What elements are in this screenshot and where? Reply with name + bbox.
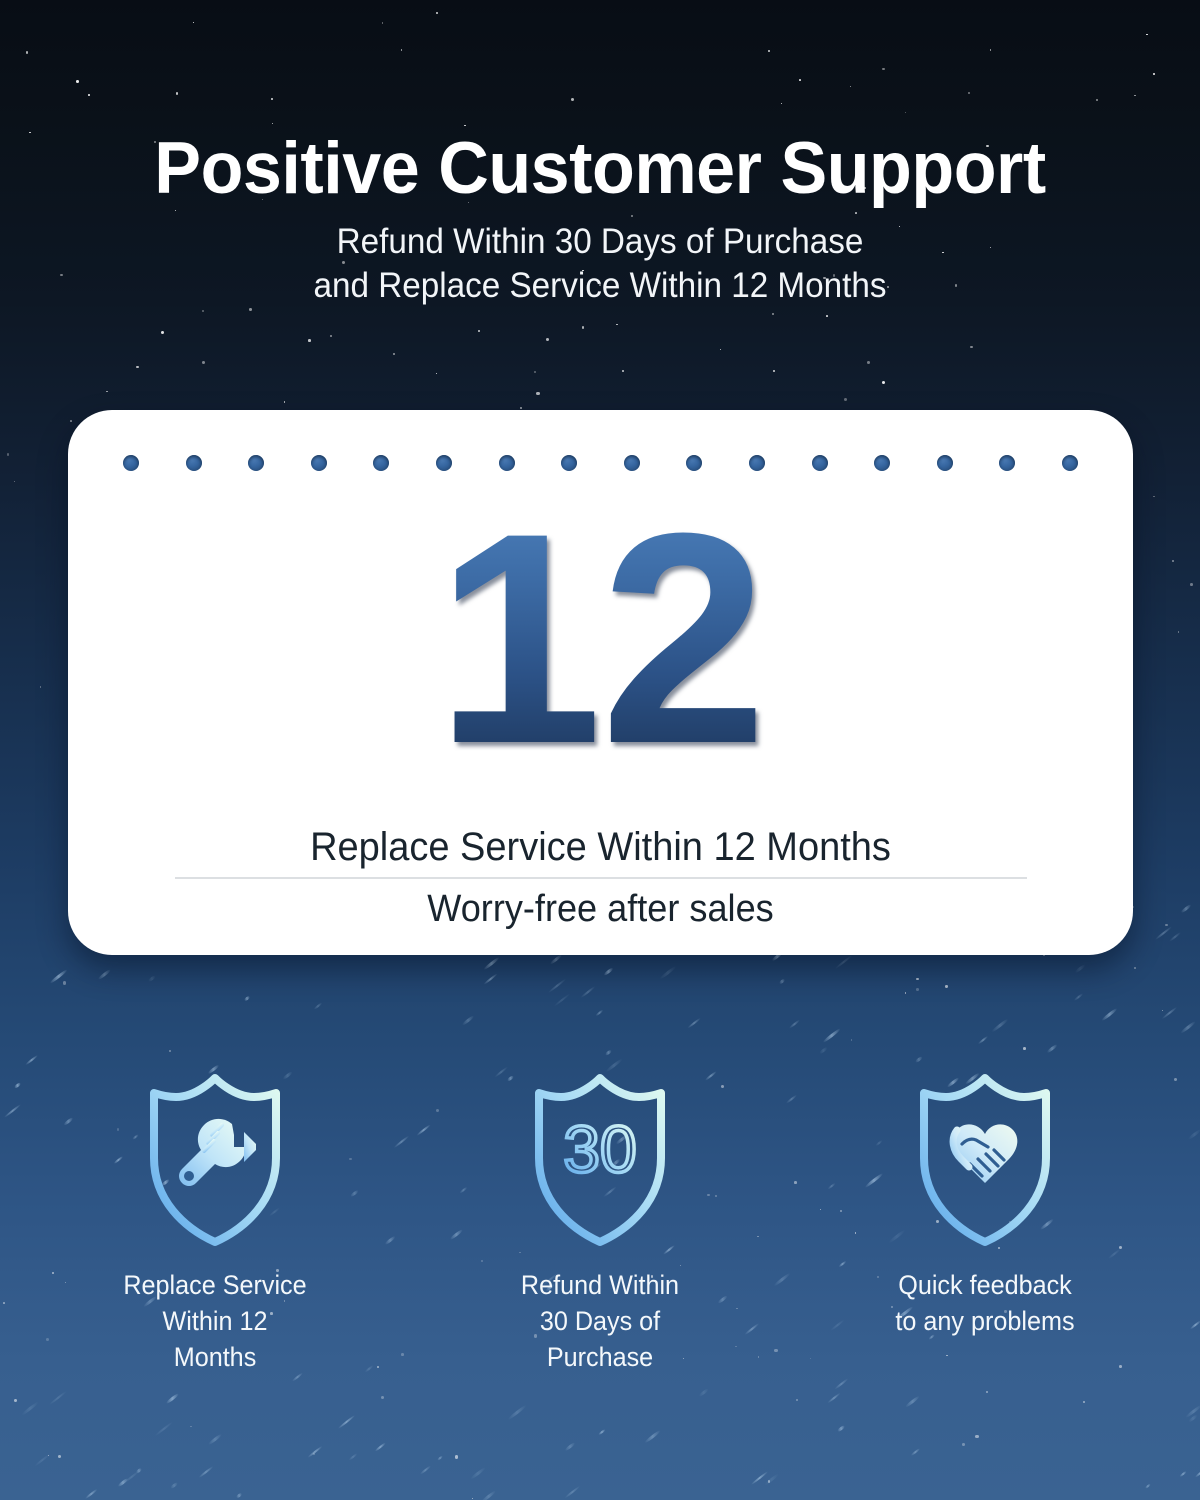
binder-hole: [311, 455, 327, 471]
feature-label: Replace Service Within 12 Months: [120, 1268, 310, 1375]
star-streak: [148, 975, 157, 983]
star-streak: [1145, 1483, 1151, 1489]
star-dot: [986, 1391, 988, 1393]
star-dot: [1083, 1401, 1085, 1403]
star-streak: [1101, 1008, 1118, 1022]
star-streak: [154, 1422, 172, 1437]
star-dot: [48, 1455, 49, 1456]
star-streak: [581, 986, 597, 999]
star-streak: [553, 993, 570, 1007]
star-dot: [1178, 631, 1179, 632]
star-streak: [779, 978, 785, 984]
star-dot: [249, 308, 252, 311]
star-dot: [313, 1453, 315, 1455]
star-dot: [796, 1399, 798, 1401]
star-dot: [975, 1435, 978, 1438]
binder-hole: [1062, 455, 1078, 471]
star-streak: [136, 1468, 143, 1475]
star-streak: [244, 995, 251, 1001]
star-dot: [381, 1396, 384, 1399]
subtitle-line-2: and Replace Service Within 12 Months: [30, 264, 1170, 308]
star-dot: [582, 326, 585, 329]
star-streak: [1161, 1006, 1177, 1019]
star-streak: [549, 954, 562, 965]
feature-label: Refund Within 30 Days of Purchase: [505, 1268, 695, 1375]
binder-hole: [749, 455, 765, 471]
star-dot: [330, 335, 333, 338]
binder-hole: [624, 455, 640, 471]
star-dot: [202, 361, 205, 364]
shield-badge-number: 30: [563, 1112, 636, 1186]
star-streak: [834, 1378, 849, 1390]
binder-hole: [874, 455, 890, 471]
star-streak: [1195, 1469, 1200, 1479]
binder-hole: [186, 455, 202, 471]
feature-label: Quick feedback to any problems: [890, 1268, 1080, 1340]
star-streak: [348, 1453, 357, 1460]
star-streak: [548, 979, 566, 994]
star-dot: [308, 339, 311, 342]
star-streak: [236, 1492, 243, 1498]
star-streak: [905, 1395, 921, 1408]
star-streak: [1179, 1471, 1186, 1477]
star-streak: [98, 969, 112, 981]
star-dot: [720, 349, 721, 350]
feature-list: Replace Service Within 12 Months 30: [0, 1070, 1200, 1375]
star-streak: [314, 1002, 323, 1010]
shield-30-days-icon: 30: [500, 1070, 700, 1250]
star-dot: [826, 315, 828, 317]
star-dot: [1153, 496, 1154, 497]
binder-hole: [123, 455, 139, 471]
star-dot: [546, 338, 549, 341]
star-streak: [1075, 964, 1086, 974]
binder-hole: [812, 455, 828, 471]
card-divider: [175, 877, 1027, 879]
feature-item-replace-service: Replace Service Within 12 Months: [115, 1070, 315, 1375]
star-streak: [835, 954, 853, 969]
star-dot: [844, 398, 847, 401]
star-streak: [564, 1442, 576, 1452]
star-streak: [603, 967, 614, 977]
feature-label-line-1: Refund Within: [505, 1268, 695, 1304]
star-streak: [199, 1466, 215, 1479]
star-dot: [393, 353, 395, 355]
star-streak: [208, 1433, 222, 1445]
star-streak: [1185, 1405, 1200, 1419]
star-dot: [472, 1498, 474, 1500]
star-streak: [991, 1018, 1009, 1033]
star-dot: [7, 453, 9, 455]
star-dot: [1023, 1047, 1026, 1050]
star-streak: [595, 1009, 603, 1016]
star-dot: [136, 366, 139, 369]
feature-label-line-1: Quick feedback: [890, 1268, 1080, 1304]
star-dot: [768, 1480, 771, 1483]
star-dot: [916, 988, 919, 991]
star-dot: [1162, 1010, 1164, 1012]
binder-hole: [373, 455, 389, 471]
star-dot: [945, 985, 947, 987]
star-dot: [851, 1039, 852, 1040]
star-dot: [63, 981, 66, 984]
star-dot: [916, 978, 918, 980]
star-streak: [788, 1019, 800, 1029]
star-dot: [534, 371, 536, 373]
star-streak: [823, 1028, 841, 1043]
star-streak: [1047, 1043, 1058, 1053]
star-streak: [307, 1446, 322, 1458]
star-streak: [1073, 993, 1083, 1002]
star-dot: [1165, 924, 1167, 926]
star-dot: [169, 1050, 171, 1052]
star-streak: [48, 1391, 66, 1406]
star-streak: [699, 1387, 710, 1396]
card-subcaption: Worry-free after sales: [95, 888, 1107, 931]
star-dot: [622, 370, 625, 373]
binder-hole: [999, 455, 1015, 471]
star-dot: [773, 370, 775, 372]
star-streak: [375, 1442, 387, 1452]
star-streak: [915, 1056, 923, 1064]
star-dot: [478, 330, 480, 332]
star-dot: [14, 1399, 17, 1402]
warranty-months-number: 12: [68, 488, 1133, 788]
star-streak: [483, 956, 500, 970]
star-dot: [882, 381, 885, 384]
star-dot: [70, 420, 72, 422]
star-streak: [25, 1054, 38, 1065]
star-streak: [1169, 931, 1181, 941]
star-streak: [420, 1466, 432, 1476]
star-streak: [911, 1448, 921, 1457]
star-dot: [106, 391, 108, 393]
promo-graphic: Positive Customer Support Refund Within …: [0, 0, 1200, 1500]
star-dot: [1134, 967, 1136, 969]
binder-hole: [686, 455, 702, 471]
star-dot: [14, 481, 15, 482]
star-dot: [616, 324, 617, 325]
star-dot: [455, 1455, 458, 1458]
star-streak: [34, 1454, 50, 1468]
star-dot: [40, 686, 41, 687]
star-streak: [564, 1485, 580, 1499]
header: Positive Customer Support Refund Within …: [0, 0, 1200, 308]
binder-hole: [436, 455, 452, 471]
star-dot: [970, 346, 972, 348]
star-streak: [977, 1036, 988, 1045]
star-streak: [470, 1467, 486, 1480]
star-dot: [867, 361, 870, 364]
star-streak: [508, 1405, 527, 1421]
feature-label-line-2: 30 Days of Purchase: [505, 1304, 695, 1376]
star-streak: [604, 1049, 612, 1056]
star-streak: [437, 1455, 443, 1460]
star-dot: [962, 1443, 965, 1446]
star-streak: [687, 1017, 701, 1029]
star-streak: [338, 1415, 356, 1429]
feature-label-line-2: to any problems: [890, 1304, 1080, 1340]
star-streak: [1180, 904, 1192, 914]
star-dot: [436, 373, 438, 375]
warranty-card: 12 Replace Service Within 12 Months Worr…: [68, 410, 1133, 955]
star-dot: [284, 401, 285, 402]
star-dot: [190, 1426, 192, 1428]
page-subtitle: Refund Within 30 Days of Purchase and Re…: [30, 206, 1170, 308]
star-streak: [481, 1490, 496, 1500]
star-dot: [905, 992, 906, 993]
binder-hole: [937, 455, 953, 471]
star-streak: [49, 968, 67, 983]
card-caption: Replace Service Within 12 Months: [95, 825, 1107, 870]
star-streak: [484, 973, 499, 985]
star-dot: [58, 1455, 61, 1458]
feature-label-line-1: Replace Service: [120, 1268, 310, 1304]
star-streak: [1154, 926, 1172, 941]
star-dot: [161, 331, 164, 334]
subtitle-line-1: Refund Within 30 Days of Purchase: [30, 220, 1170, 264]
feature-item-quick-feedback: Quick feedback to any problems: [885, 1070, 1085, 1375]
star-dot: [1172, 560, 1174, 562]
star-streak: [644, 1430, 661, 1444]
star-dot: [772, 313, 774, 315]
star-streak: [462, 1015, 475, 1026]
feature-item-refund: 30 Refund Within 30 Days of Purchase: [500, 1070, 700, 1375]
star-streak: [837, 1425, 845, 1432]
shield-handshake-heart-icon: [885, 1070, 1085, 1250]
star-dot: [1190, 583, 1193, 586]
binder-hole: [561, 455, 577, 471]
star-streak: [123, 1470, 141, 1484]
star-streak: [598, 1429, 606, 1436]
star-streak: [165, 1393, 179, 1405]
star-streak: [1188, 1414, 1198, 1422]
star-dot: [202, 310, 204, 312]
star-streak: [170, 1482, 178, 1489]
shield-wrench-icon: [115, 1070, 315, 1250]
star-streak: [85, 1489, 98, 1500]
binder-hole: [248, 455, 264, 471]
star-streak: [21, 1401, 38, 1415]
star-streak: [117, 1477, 128, 1487]
star-streak: [819, 1047, 828, 1055]
star-streak: [751, 1470, 769, 1485]
star-dot: [536, 392, 539, 395]
star-streak: [659, 965, 677, 980]
star-streak: [827, 1392, 841, 1403]
star-streak: [1180, 1021, 1196, 1034]
page-title: Positive Customer Support: [24, 0, 1176, 206]
star-streak: [764, 1473, 779, 1485]
feature-label-line-2: Within 12 Months: [120, 1304, 310, 1376]
binder-hole: [499, 455, 515, 471]
